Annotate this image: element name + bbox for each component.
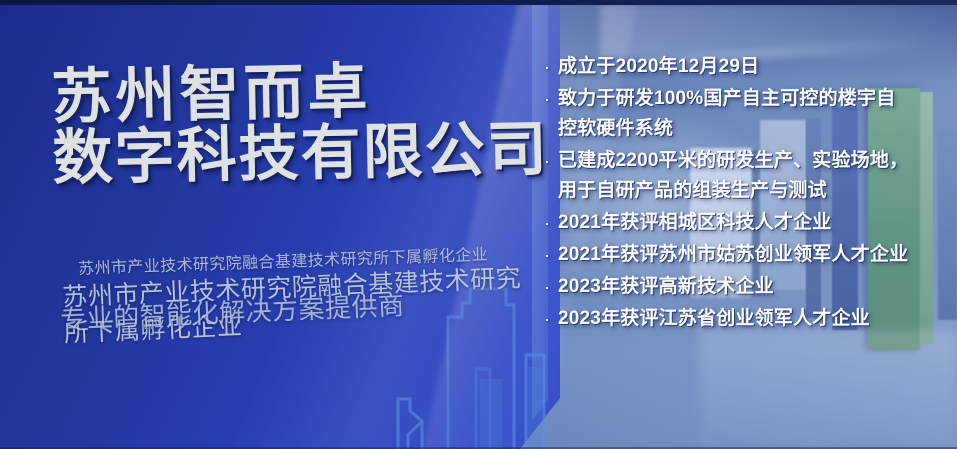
list-item-line: 致力于研发100%国产自主可控的楼宇自 [558,84,954,114]
bullet-marker-icon: · [536,272,558,302]
bullet-marker-icon: · [536,84,558,114]
list-item: · 2021年获评相城区科技人才企业 [536,208,954,238]
bullet-marker-icon: · [536,146,558,176]
list-item: · 2023年获评高新技术企业 [536,272,954,302]
list-item-text: 2021年获评苏州市姑苏创业领军人才企业 [558,240,954,270]
bullet-marker-icon: · [536,304,558,334]
bullet-marker-icon: · [536,240,558,270]
company-name: 苏州智而卓 数字科技有限公司 [51,57,553,189]
list-item-line: 已建成2200平米的研发生产、实验场地， [558,146,954,176]
top-frame-border [0,0,957,5]
list-item-line: 2021年获评相城区科技人才企业 [558,208,954,238]
list-item: · 2021年获评苏州市姑苏创业领军人才企业 [536,240,954,270]
slide-canvas: 苏州智而卓 数字科技有限公司 苏州市产业技术研究院融合基建技术研究所下属孵化企业… [0,0,957,449]
company-name-line2: 数字科技有限公司 [52,118,553,189]
list-item: · 2023年获评江苏省创业领军人才企业 [536,304,954,334]
list-item-text: 2023年获评高新技术企业 [558,272,954,302]
list-item-line: 用于自研产品的组装生产与测试 [558,176,954,206]
list-item-text: 致力于研发100%国产自主可控的楼宇自 控软硬件系统 [558,84,954,144]
list-item-line: 成立于2020年12月29日 [558,52,954,82]
list-item-text: 2023年获评江苏省创业领军人才企业 [558,304,954,334]
list-item: · 致力于研发100%国产自主可控的楼宇自 控软硬件系统 [536,84,954,144]
list-item-text: 成立于2020年12月29日 [558,52,954,82]
list-item-line: 2023年获评江苏省创业领军人才企业 [558,304,954,334]
bullet-marker-icon: · [536,52,558,82]
list-item-line: 2021年获评苏州市姑苏创业领军人才企业 [558,240,954,270]
list-item: · 已建成2200平米的研发生产、实验场地， 用于自研产品的组装生产与测试 [536,146,954,206]
bullet-marker-icon: · [536,208,558,238]
list-item-text: 已建成2200平米的研发生产、实验场地， 用于自研产品的组装生产与测试 [558,146,954,206]
list-item-line: 控软硬件系统 [558,114,954,144]
list-item-line: 2023年获评高新技术企业 [558,272,954,302]
list-item: · 成立于2020年12月29日 [536,52,954,82]
list-item-text: 2021年获评相城区科技人才企业 [558,208,954,238]
highlights-list: · 成立于2020年12月29日 · 致力于研发100%国产自主可控的楼宇自 控… [536,52,954,336]
